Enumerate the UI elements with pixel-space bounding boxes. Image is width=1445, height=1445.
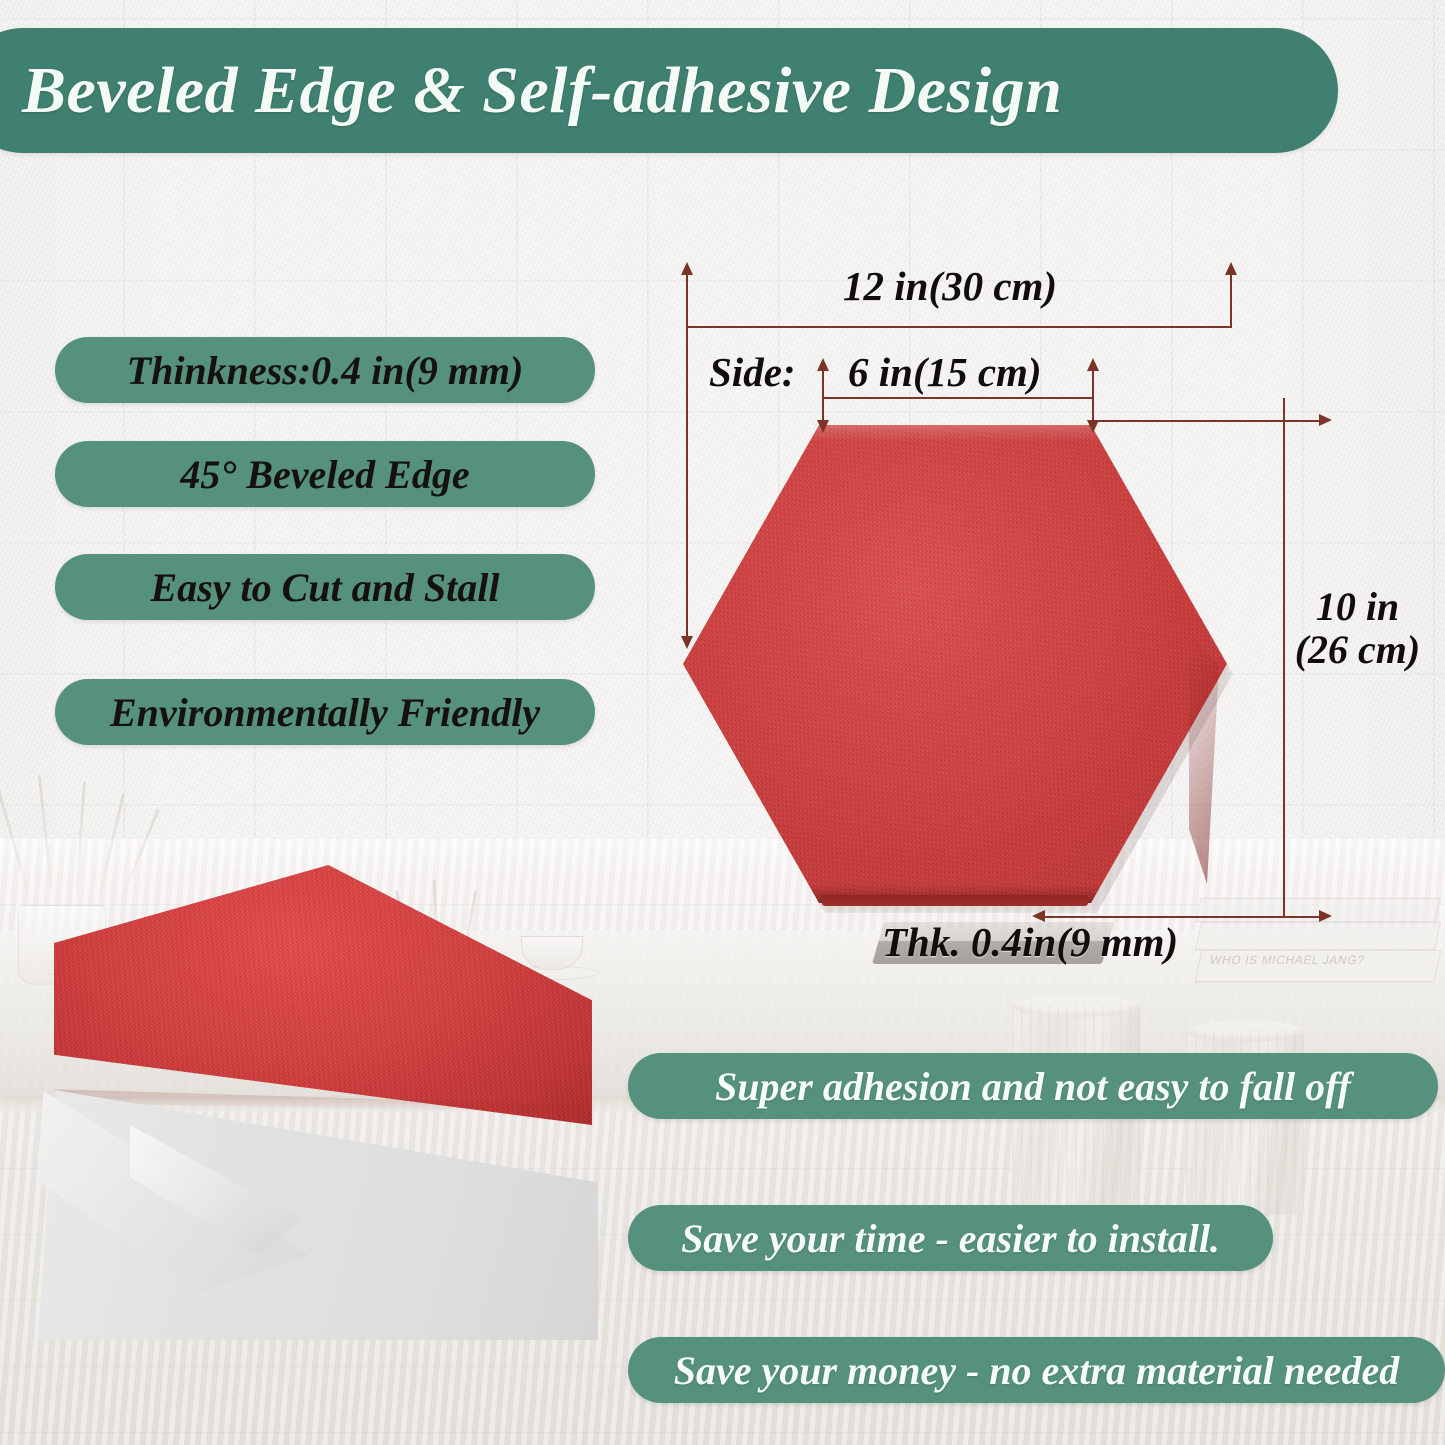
dim-side-left-arrow-down [817, 420, 829, 433]
benefit-pill-save-money: Save your money - no extra material need… [628, 1337, 1445, 1403]
dim-width-left-arrow [681, 262, 693, 275]
dim-side-label: 6 in(15 cm) [848, 348, 1042, 396]
hexagon-thickness-edge [822, 895, 1089, 906]
dim-width-left-dropline [686, 326, 688, 638]
infographic-canvas: WHO IS MICHAEL JANG? Beveled Edge & Self… [0, 0, 1445, 1445]
dim-side-left-arrow-up [817, 358, 829, 371]
dim-height-top-arrow [1319, 414, 1332, 426]
hexagon-right-bevel-face [1189, 635, 1219, 884]
dim-height-label-line1: 10 in [1270, 585, 1445, 628]
dim-side-line [822, 397, 1094, 399]
feature-pill-easy-to-cut: Easy to Cut and Stall [55, 554, 595, 620]
dim-height-bottom-arrow [1319, 910, 1332, 922]
hexagon-bevel-highlight [683, 425, 1227, 903]
benefit-pill-label: Save your money - no extra material need… [674, 1347, 1399, 1394]
book-title: WHO IS MICHAEL JANG? [1199, 951, 1440, 967]
title-banner: Beveled Edge & Self-adhesive Design [0, 28, 1338, 153]
feature-pill-beveled-edge: 45° Beveled Edge [55, 441, 595, 507]
dim-side-prefix-label: Side: [709, 348, 796, 396]
dim-height-label: 10 in (26 cm) [1270, 585, 1445, 671]
dim-width-line [686, 326, 1232, 328]
dim-width-right-arrow [1225, 262, 1237, 275]
feature-pill-eco-friendly: Environmentally Friendly [55, 679, 595, 745]
dim-width-label: 12 in(30 cm) [843, 262, 1057, 310]
feature-pill-thickness: Thinkness:0.4 in(9 mm) [55, 337, 595, 403]
book-stack: WHO IS MICHAEL JANG? [1198, 898, 1438, 982]
dim-side-right-tick [1092, 366, 1094, 426]
feature-pill-label: 45° Beveled Edge [180, 451, 469, 498]
peel-panel-felt-texture [54, 865, 592, 1125]
dim-side-left-tick [822, 366, 824, 426]
dim-height-top-leader [1092, 420, 1322, 422]
page-title: Beveled Edge & Self-adhesive Design [0, 53, 1062, 129]
dim-width-left-extension [686, 272, 688, 328]
benefit-pill-adhesion: Super adhesion and not easy to fall off [628, 1053, 1438, 1119]
dim-width-right-extension [1230, 272, 1232, 328]
benefit-pill-label: Super adhesion and not easy to fall off [715, 1063, 1351, 1110]
benefit-pill-label: Save your time - easier to install. [681, 1215, 1220, 1262]
dim-width-left-dropline-arrow [681, 636, 693, 649]
feature-pill-label: Environmentally Friendly [110, 689, 540, 736]
dim-side-right-arrow-up [1087, 358, 1099, 371]
feature-pill-label: Easy to Cut and Stall [151, 564, 500, 611]
benefit-pill-save-time: Save your time - easier to install. [628, 1205, 1273, 1271]
feature-pill-label: Thinkness:0.4 in(9 mm) [127, 347, 524, 394]
dim-height-label-line2: (26 cm) [1270, 628, 1445, 671]
self-adhesive-peel-illustration [10, 865, 610, 1340]
dim-thickness-label: Thk. 0.4in(9 mm) [882, 918, 1178, 966]
hexagon-acoustic-panel [683, 425, 1227, 903]
